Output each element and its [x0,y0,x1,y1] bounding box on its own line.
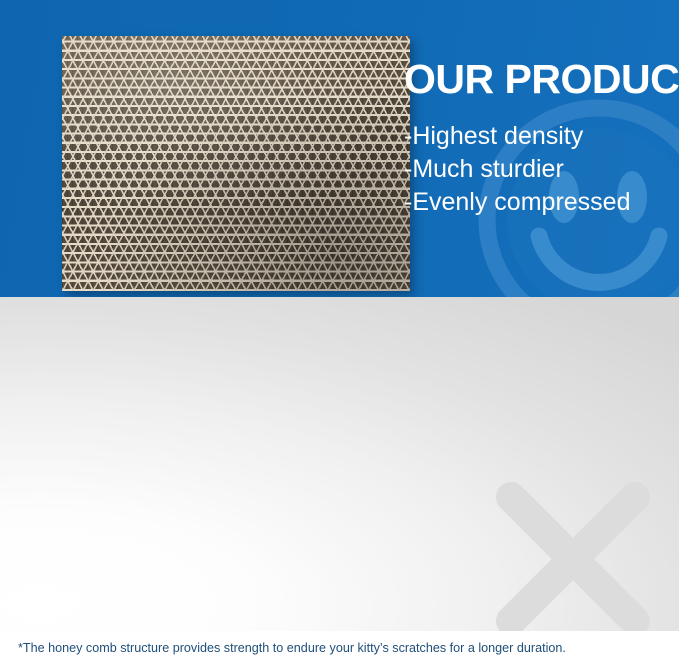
list-item: -Highest density [404,120,672,153]
others-section: OTHERS -Large grooves -Light weight -Low… [0,297,679,631]
footnote-text: *The honey comb structure provides stren… [0,641,566,655]
footnote-bar: *The honey comb structure provides stren… [0,631,679,665]
product-comparison-infographic: OUR PRODUCT -Highest density -Much sturd… [0,0,679,665]
our-product-photo [62,36,410,291]
our-product-copy: OUR PRODUCT -Highest density -Much sturd… [404,59,672,219]
our-product-headline: OUR PRODUCT [404,59,672,100]
list-item: -Much sturdier [404,153,672,186]
our-product-section: OUR PRODUCT -Highest density -Much sturd… [0,0,679,297]
list-item: -Evenly compressed [404,186,672,219]
our-product-bullet-list: -Highest density -Much sturdier -Evenly … [404,120,672,219]
x-mark-icon [489,475,657,631]
honeycomb-texture-dense [62,36,410,291]
